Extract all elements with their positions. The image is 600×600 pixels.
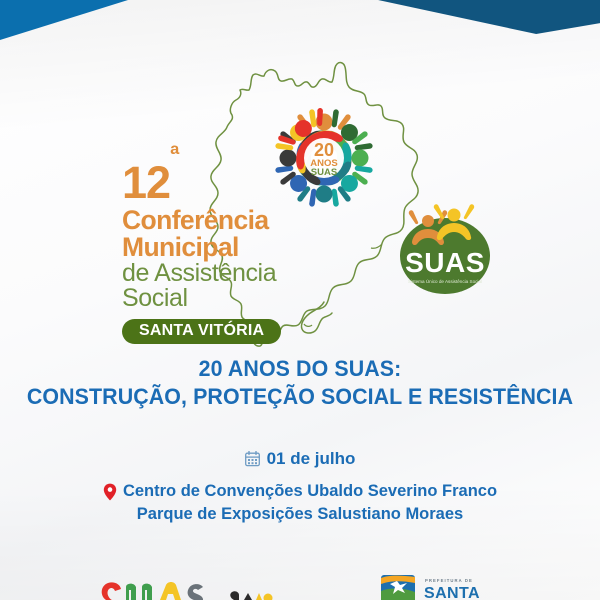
event-date-row: 01 de julho (0, 449, 600, 469)
emblem-years: 20 (314, 140, 334, 160)
event-date-text: 01 de julho (267, 449, 356, 469)
footer-logo-strip: PREFEITURA DE SANTA (0, 574, 600, 600)
prefeitura-logo: PREFEITURA DE SANTA (380, 574, 500, 600)
map-pin-icon (103, 483, 117, 501)
prefeitura-label-main: SANTA (424, 585, 480, 600)
event-venue-block: Centro de Convenções Ubaldo Severino Fra… (0, 480, 600, 527)
headline-line-2: CONSTRUÇÃO, PROTEÇÃO SOCIAL E RESISTÊNCI… (15, 383, 585, 411)
venue-line-1: Centro de Convenções Ubaldo Severino Fra… (123, 480, 497, 503)
corner-ribbon-right (296, 0, 600, 34)
cmas-logo (98, 574, 210, 600)
corner-ribbon-left (0, 0, 128, 40)
title-line-social: Social (122, 286, 372, 311)
event-headline: 20 ANOS DO SUAS: CONSTRUÇÃO, PROTEÇÃO SO… (15, 355, 585, 411)
suas-badge-subtitle: Sistema Único de Assistência Social (408, 278, 482, 284)
suas-badge-logo: SUAS Sistema Único de Assistência Social (392, 198, 498, 298)
suas-badge-acronym: SUAS (405, 247, 485, 278)
suas-20-years-emblem: 20 ANOS SUAS (262, 96, 386, 220)
headline-line-1: 20 ANOS DO SUAS: (15, 355, 585, 383)
title-line-municipal: Municipal (122, 234, 372, 261)
emblem-suas: SUAS (311, 167, 337, 178)
edition-ordinal: ª (170, 141, 178, 169)
edition-digits: 12 (122, 157, 170, 208)
city-badge: SANTA VITÓRIA (122, 319, 281, 344)
calendar-icon (245, 451, 260, 467)
poster-canvas: 12ª Conferência Municipal de Assistência… (0, 0, 600, 600)
prefeitura-label-small: PREFEITURA DE (425, 578, 473, 583)
title-line-assistencia: de Assistência (122, 261, 372, 286)
partner-logo (228, 574, 290, 600)
venue-line-2: Parque de Exposições Salustiano Moraes (0, 503, 600, 526)
